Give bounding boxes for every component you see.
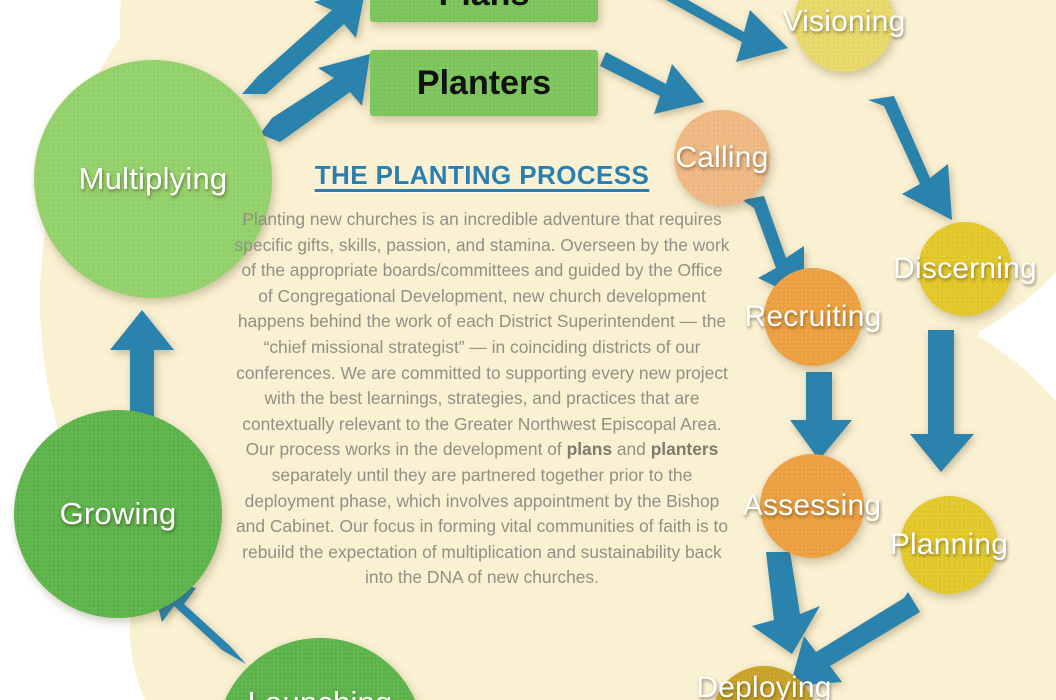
node-deploying[interactable]: Deploying — [712, 666, 816, 700]
box-planters[interactable]: Planters — [370, 50, 598, 116]
box-plans[interactable]: Plans — [370, 0, 598, 22]
node-visioning-label: Visioning — [783, 5, 906, 39]
node-planning[interactable]: Planning — [900, 496, 998, 594]
text-panel: THE PLANTING PROCESS Planting new church… — [232, 160, 732, 591]
box-plans-label: Plans — [439, 0, 530, 14]
page-title: THE PLANTING PROCESS — [232, 160, 732, 191]
box-planters-label: Planters — [417, 64, 551, 103]
node-growing-label: Growing — [60, 496, 177, 532]
node-recruiting[interactable]: Recruiting — [764, 268, 862, 366]
node-multiplying-label: Multiplying — [79, 161, 228, 197]
infographic-canvas: Plans Planters Multiplying Growing Launc… — [0, 0, 1056, 700]
node-recruiting-label: Recruiting — [744, 300, 881, 334]
node-growing[interactable]: Growing — [14, 410, 222, 618]
body-part-2: and — [612, 439, 651, 459]
node-launching-label: Launching — [248, 685, 393, 700]
body-part-3: separately until they are partnered toge… — [236, 465, 728, 587]
node-discerning-label: Discerning — [893, 252, 1037, 286]
node-planning-label: Planning — [890, 528, 1008, 562]
body-part-1: Planting new churches is an incredible a… — [235, 209, 730, 459]
node-assessing[interactable]: Assessing — [760, 454, 864, 558]
body-bold-planters: planters — [651, 439, 719, 459]
node-deploying-label: Deploying — [696, 671, 831, 700]
body-paragraph: Planting new churches is an incredible a… — [232, 207, 732, 591]
node-assessing-label: Assessing — [743, 489, 882, 523]
node-discerning[interactable]: Discerning — [918, 222, 1012, 316]
body-bold-plans: plans — [567, 439, 612, 459]
